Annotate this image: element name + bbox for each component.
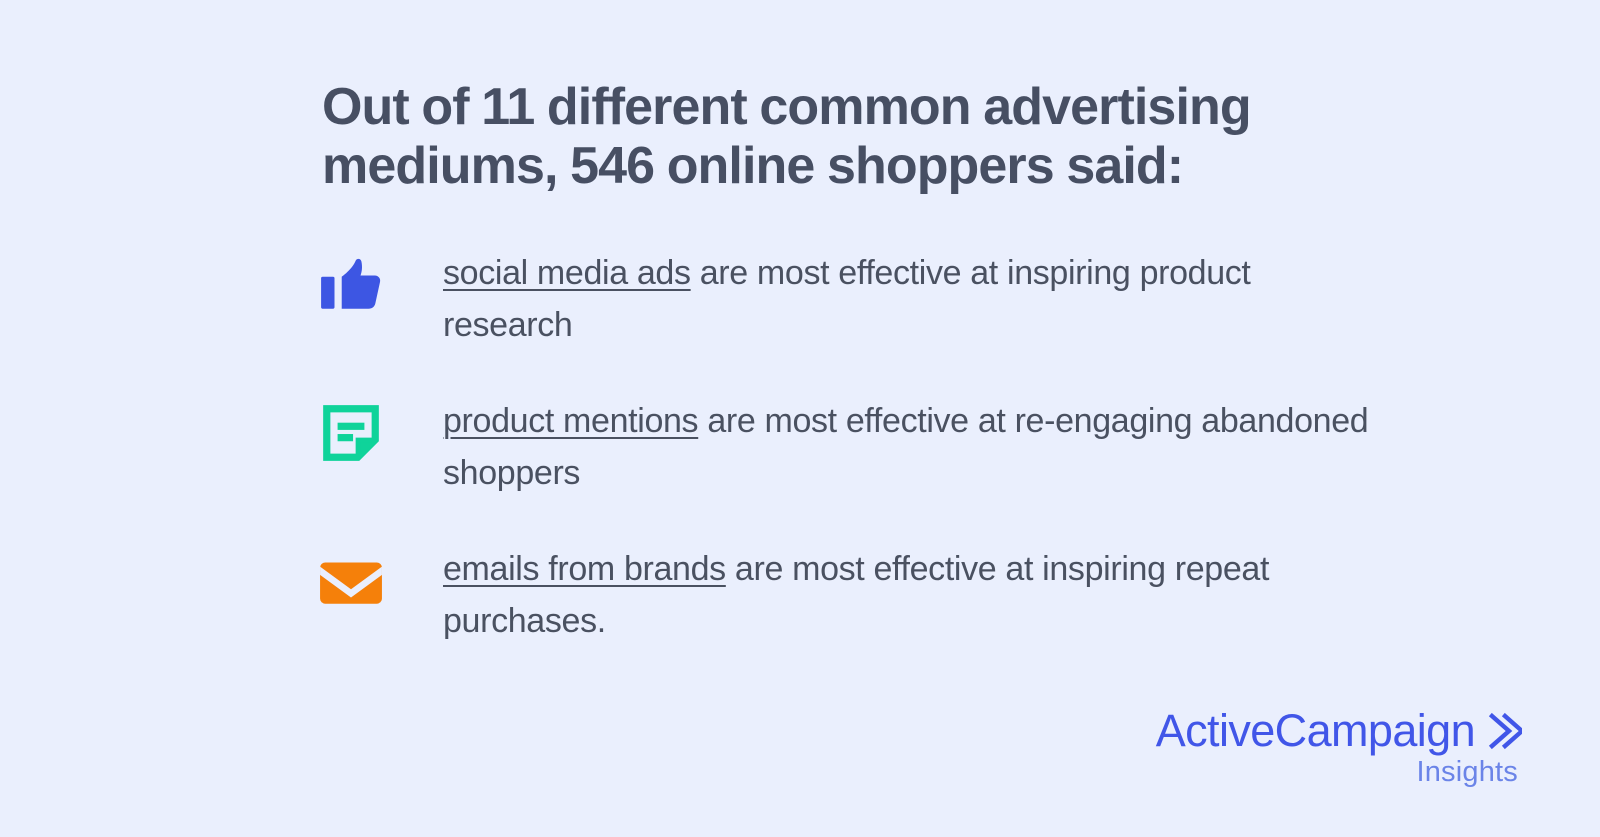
list-item: product mentions are most effective at r… (312, 396, 1372, 544)
note-document-icon (318, 400, 384, 466)
list-item-text: product mentions are most effective at r… (443, 396, 1372, 499)
list-item-text: emails from brands are most effective at… (443, 544, 1372, 647)
insight-card: Out of 11 different common advertising m… (0, 0, 1600, 837)
logo-subtitle: Insights (1156, 757, 1518, 789)
logo-wordmark: ActiveCampaign (1156, 708, 1475, 753)
list-item: social media ads are most effective at i… (312, 248, 1372, 396)
logo-wordmark-row: ActiveCampaign (1156, 708, 1522, 753)
envelope-icon (318, 548, 384, 614)
thumbs-up-icon (318, 252, 384, 318)
list-item-lead: product mentions (443, 402, 698, 440)
double-chevron-right-icon (1488, 711, 1522, 751)
page-title: Out of 11 different common advertising m… (322, 78, 1322, 196)
brand-logo: ActiveCampaign Insights (1156, 708, 1522, 789)
list-item-lead: emails from brands (443, 550, 726, 588)
insight-list: social media ads are most effective at i… (312, 248, 1372, 692)
list-item-text: social media ads are most effective at i… (443, 248, 1372, 351)
list-item: emails from brands are most effective at… (312, 544, 1372, 692)
list-item-lead: social media ads (443, 254, 691, 292)
